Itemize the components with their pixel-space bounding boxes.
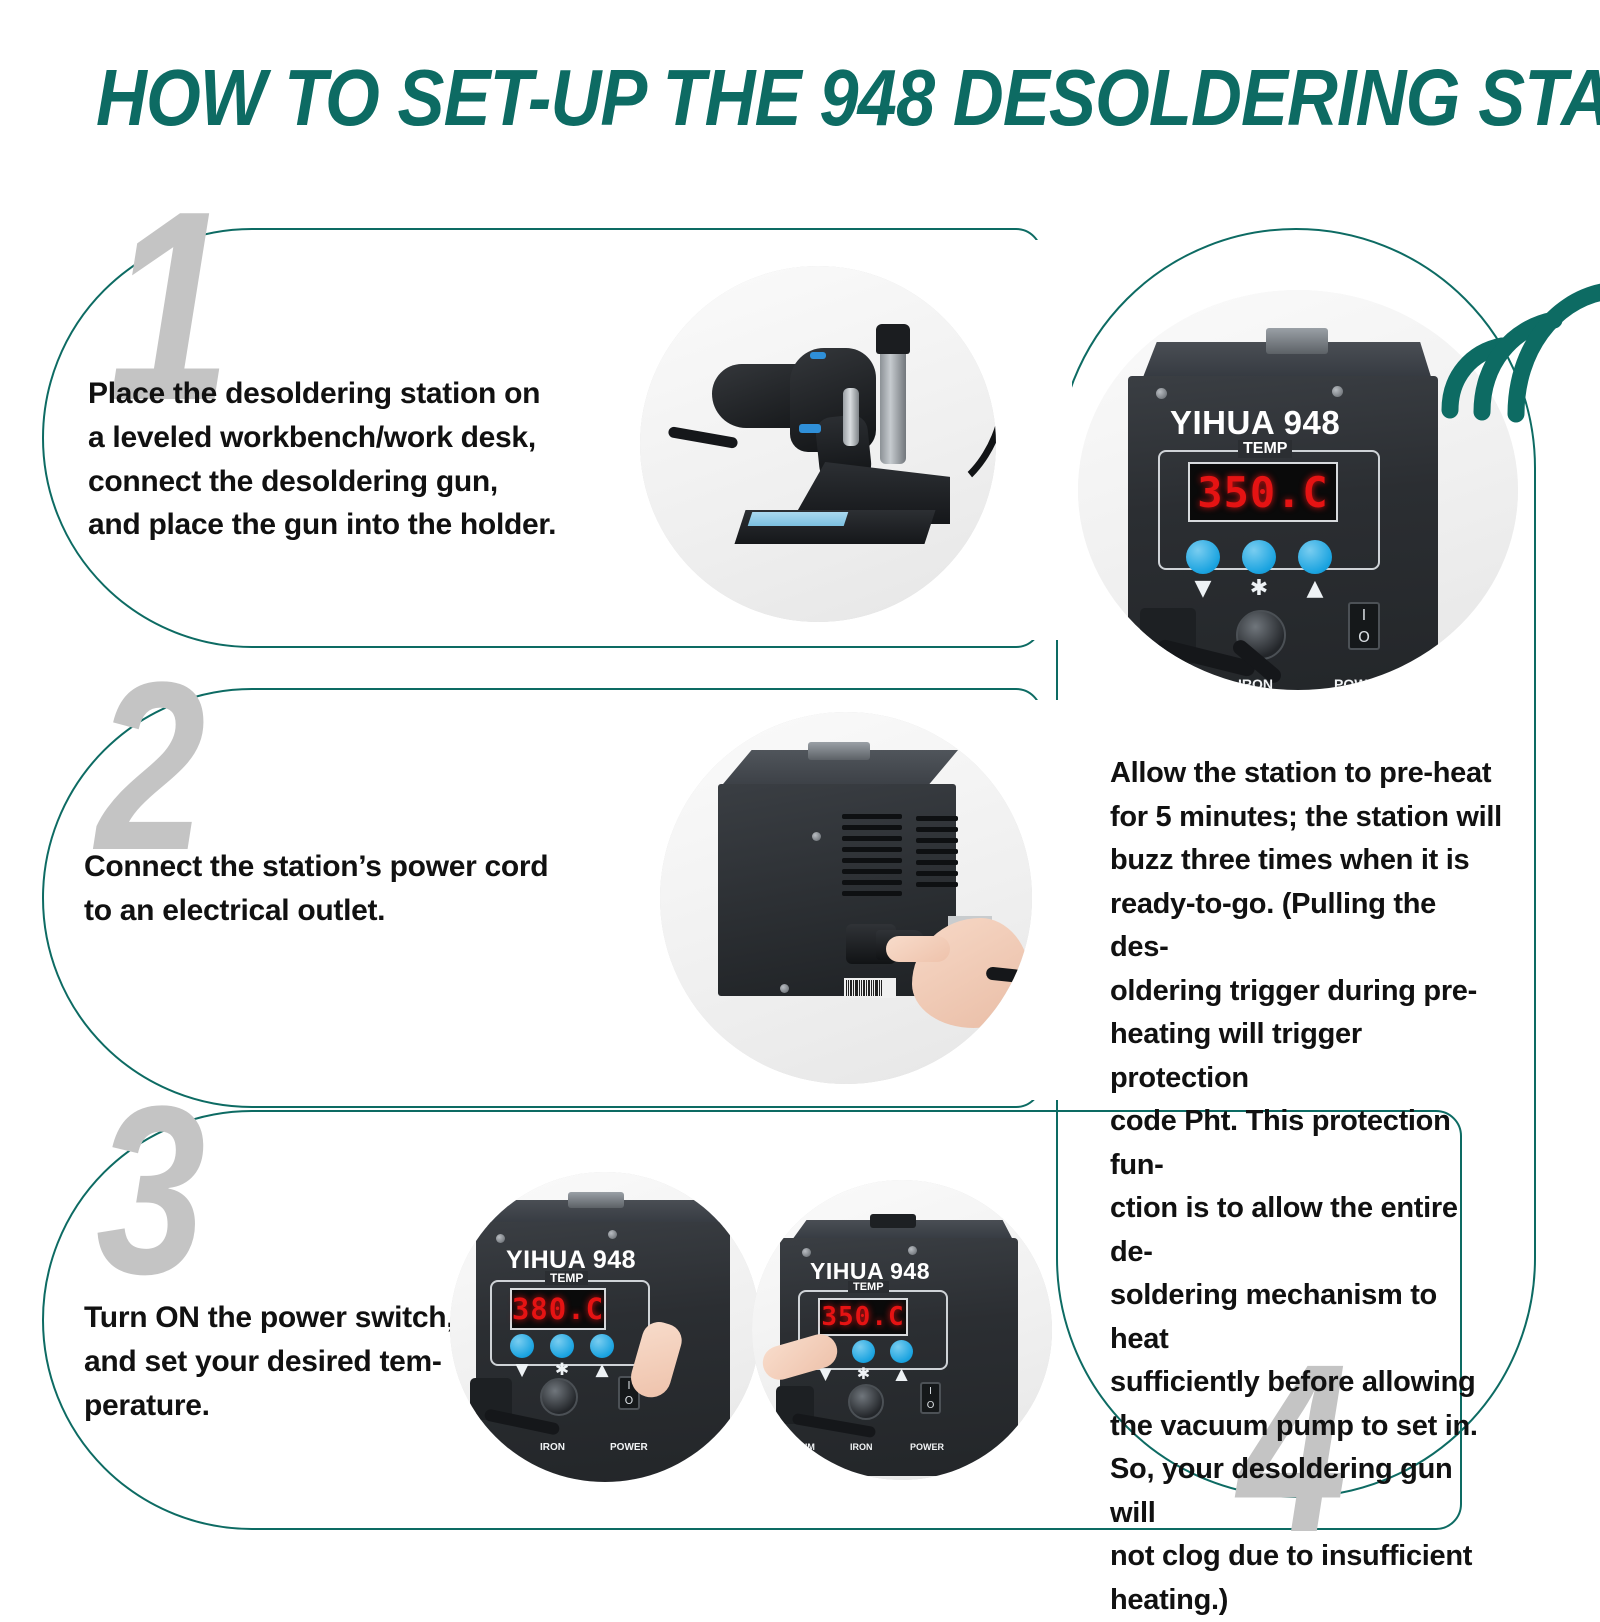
down-arrow-icon: ▼ bbox=[1186, 578, 1220, 600]
iron-label: IRON bbox=[850, 1442, 873, 1452]
temperature-value: 350.C bbox=[1197, 468, 1328, 517]
star-icon: ✱ bbox=[550, 1362, 574, 1379]
model-number: 948 bbox=[593, 1246, 636, 1274]
carry-handle bbox=[870, 1214, 916, 1228]
panel-screw-right bbox=[1332, 386, 1343, 397]
star-icon: ✱ bbox=[852, 1366, 875, 1382]
panel-screw-left bbox=[802, 1248, 811, 1257]
iron-label: IRON bbox=[540, 1442, 565, 1453]
model-number: 948 bbox=[1284, 404, 1341, 441]
panel-screw-right bbox=[908, 1246, 917, 1255]
vacuum-label: VACUUM bbox=[1140, 676, 1200, 690]
power-switch[interactable]: IO bbox=[1348, 602, 1380, 650]
power-switch[interactable]: IO bbox=[920, 1382, 941, 1414]
gun-cord bbox=[668, 426, 739, 449]
power-label: POWER bbox=[1334, 676, 1387, 690]
carry-handle bbox=[1266, 328, 1328, 354]
star-icon: ✱ bbox=[1242, 578, 1276, 600]
up-arrow-icon: ▲ bbox=[1298, 578, 1332, 600]
iron-label: IRON bbox=[1238, 676, 1273, 690]
step-3-text: Turn ON the power switch, and set your d… bbox=[84, 1296, 464, 1427]
down-button[interactable] bbox=[1186, 540, 1220, 574]
panel-mask-a bbox=[1032, 240, 1072, 640]
step-3-photo-left: YIHUA 948 TEMP 380.C ▼ ✱ ▲ IO IRON POWER bbox=[450, 1172, 760, 1482]
step-1-photo bbox=[640, 266, 996, 622]
panel-mask-b bbox=[1032, 700, 1072, 1100]
gun-tube bbox=[843, 388, 859, 446]
vacuum-label: VACUUM bbox=[776, 1442, 815, 1452]
vent-group-right bbox=[916, 816, 958, 902]
star-button[interactable] bbox=[1242, 540, 1276, 574]
rear-screw-top bbox=[812, 832, 821, 841]
up-button[interactable] bbox=[590, 1334, 614, 1358]
step-3-number: 3 bbox=[96, 1092, 205, 1289]
cleaning-sponge bbox=[748, 512, 849, 526]
page-title: HOW TO SET-UP THE 948 DESOLDERING STATIO… bbox=[96, 58, 1504, 138]
iron-port bbox=[540, 1378, 578, 1416]
rod-cap bbox=[876, 324, 910, 354]
step-2-photo bbox=[660, 712, 1032, 1084]
gun-top-tab bbox=[810, 352, 826, 359]
carry-handle bbox=[568, 1192, 624, 1208]
infographic-root: HOW TO SET-UP THE 948 DESOLDERING STATIO… bbox=[0, 0, 1600, 1600]
step-4-text: Allow the station to pre-heat for 5 minu… bbox=[1110, 752, 1502, 1622]
up-button[interactable] bbox=[1298, 540, 1332, 574]
gun-trigger-tab bbox=[799, 424, 821, 433]
temp-label: TEMP bbox=[848, 1281, 889, 1293]
temperature-display: 350.C bbox=[1188, 462, 1338, 522]
brand-name: YIHUA bbox=[506, 1246, 585, 1274]
panel-screw-right bbox=[608, 1230, 617, 1239]
barcode-label bbox=[844, 978, 896, 998]
rear-screw-bottom bbox=[780, 984, 789, 993]
step-3-photo-right: YIHUA 948 TEMP 350.C ▼ ✱ ▲ IO VACUUM IRO… bbox=[752, 1180, 1052, 1480]
temp-label: TEMP bbox=[1238, 440, 1292, 458]
temperature-display: 380.C bbox=[510, 1288, 606, 1330]
brand-label: YIHUA 948 bbox=[1170, 404, 1340, 442]
power-label: POWER bbox=[610, 1442, 648, 1453]
sound-wave-icon bbox=[1438, 258, 1600, 438]
power-label: POWER bbox=[910, 1442, 944, 1452]
down-button[interactable] bbox=[510, 1334, 534, 1358]
iron-port bbox=[848, 1384, 884, 1420]
panel-screw-left bbox=[1156, 388, 1167, 399]
carry-handle bbox=[808, 742, 870, 760]
step-2-number: 2 bbox=[96, 668, 205, 865]
panel-screw-left bbox=[496, 1234, 505, 1243]
temperature-display: 350.C bbox=[818, 1298, 908, 1336]
esd-label: ES bbox=[1404, 676, 1423, 690]
brand-name: YIHUA bbox=[1170, 404, 1274, 441]
step-2-text: Connect the station’s power cord to an e… bbox=[84, 845, 554, 933]
star-button[interactable] bbox=[852, 1340, 875, 1363]
up-arrow-icon: ▲ bbox=[590, 1362, 614, 1379]
temperature-value: 380.C bbox=[512, 1292, 604, 1326]
temperature-value: 350.C bbox=[821, 1302, 904, 1332]
vent-group-left bbox=[842, 814, 902, 906]
temp-label: TEMP bbox=[545, 1271, 588, 1285]
down-arrow-icon: ▼ bbox=[510, 1362, 534, 1379]
star-button[interactable] bbox=[550, 1334, 574, 1358]
step-1-text: Place the desoldering station on a level… bbox=[88, 372, 558, 547]
up-arrow-icon: ▲ bbox=[890, 1366, 913, 1382]
model-number: 948 bbox=[890, 1258, 930, 1284]
up-button[interactable] bbox=[890, 1340, 913, 1363]
holder-rod bbox=[880, 344, 906, 464]
hand-finger bbox=[886, 936, 950, 962]
